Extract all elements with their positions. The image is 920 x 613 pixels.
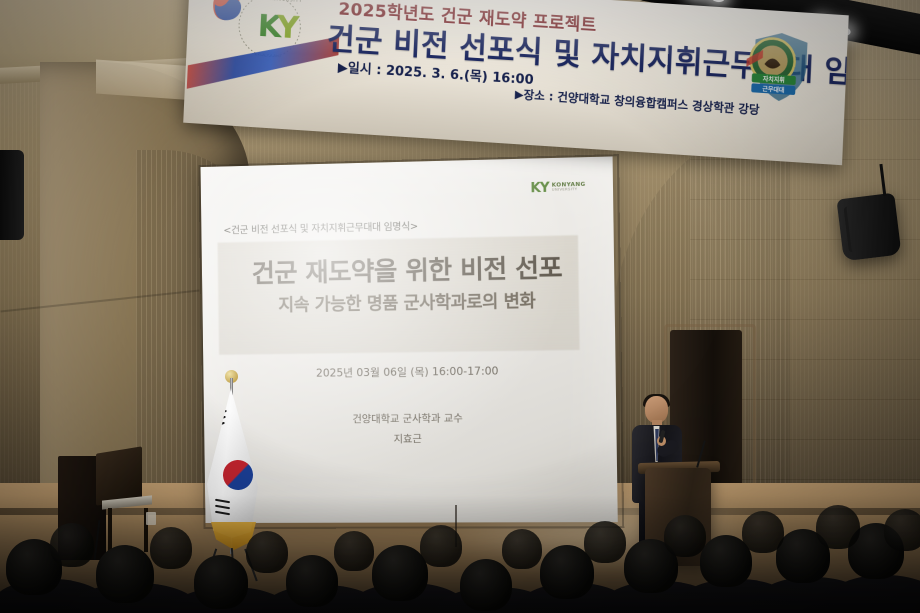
ky-logo-text: KY <box>530 181 548 197</box>
slide-title: 건군 재도약을 위한 비전 선포 <box>202 247 615 291</box>
audience-head <box>502 529 542 569</box>
audience-head <box>816 505 860 549</box>
audience-head <box>150 527 192 569</box>
svg-text:근무대대: 근무대대 <box>762 85 785 94</box>
speaker-grille <box>843 201 894 252</box>
audience-head <box>460 559 512 611</box>
auditorium-photo-scene: KY KONYANG UNIVERSITY <건군 비전 선포식 및 자치지휘근… <box>0 0 920 613</box>
banner-ky-logo: K Y KONYANG UNIVERSITY KONYANG <box>194 0 316 79</box>
svg-text:자치지휘: 자치지휘 <box>763 75 785 84</box>
audience-head <box>194 555 248 609</box>
taeguk-circle <box>218 455 258 495</box>
banner-place-line: ▶장소 : 건양대학교 창의융합캠퍼스 경상학관 강당 <box>515 86 760 118</box>
audience-head <box>246 531 288 573</box>
svg-text:Y: Y <box>275 10 301 47</box>
audience-head <box>286 555 338 607</box>
audience-head <box>420 525 462 567</box>
audience-head <box>884 509 920 551</box>
wall-mounted-loudspeaker-right <box>836 193 901 262</box>
seated-audience <box>0 495 920 613</box>
svg-text:KONYANG UNIVERSITY: KONYANG UNIVERSITY <box>239 0 302 3</box>
audience-head <box>96 545 154 603</box>
audience-head <box>50 523 94 567</box>
audience-head <box>664 515 706 557</box>
speaker-head <box>645 396 668 423</box>
wall-mounted-loudspeaker-left <box>0 150 24 240</box>
banner-military-emblem: 자치지휘 근무대대 <box>741 29 814 107</box>
slide-logo-sub: UNIVERSITY <box>552 188 586 192</box>
slide-kicker-text: <건군 비전 선포식 및 자치지휘근무대대 임명식> <box>223 218 418 236</box>
audience-head <box>742 511 784 553</box>
audience-head <box>584 521 626 563</box>
audience-head <box>334 531 374 571</box>
slide-konyang-logo: KY KONYANG UNIVERSITY <box>530 180 585 197</box>
